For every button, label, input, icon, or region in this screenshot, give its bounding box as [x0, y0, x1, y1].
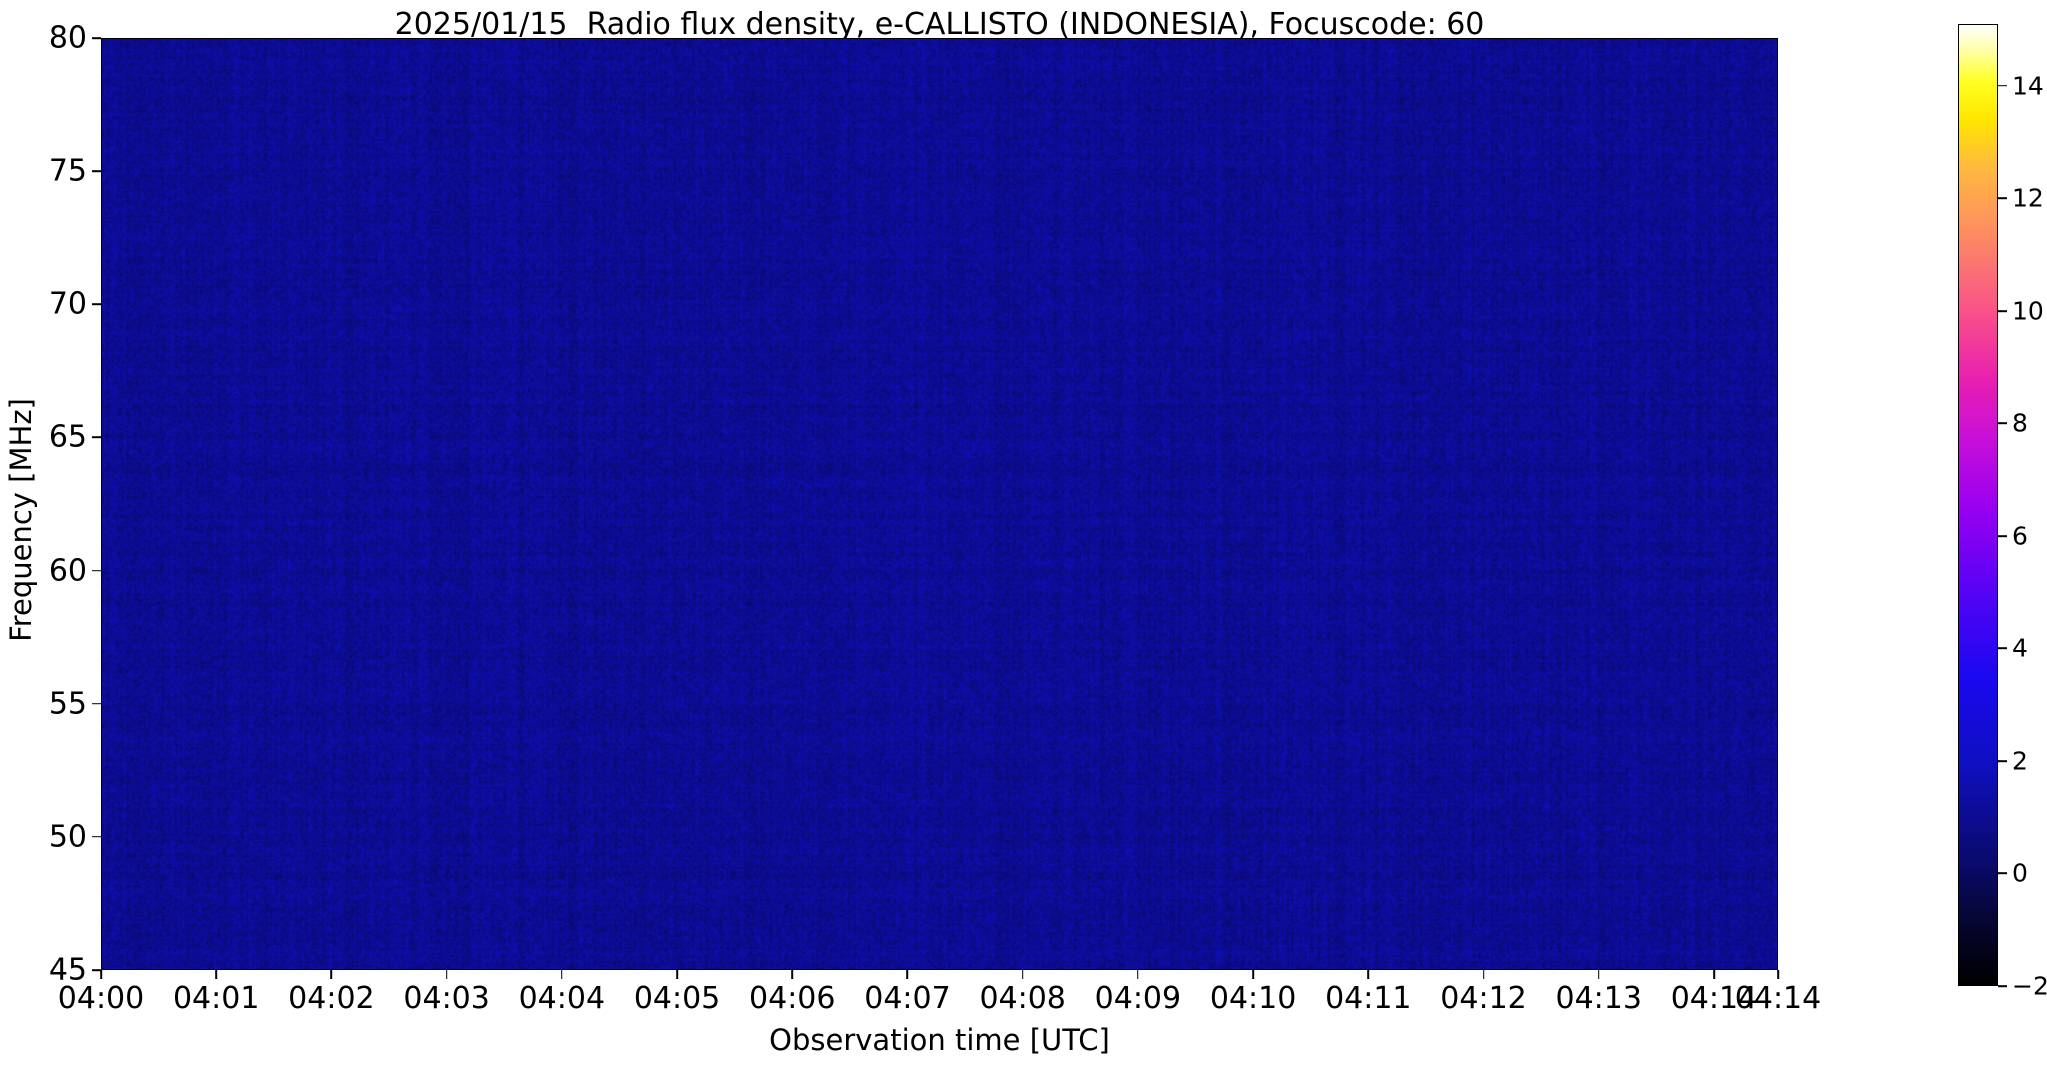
colorbar-tick-label: 12 — [2012, 184, 2044, 213]
x-tick-mark — [1252, 970, 1254, 979]
colorbar: −202468101214 dB above background — [1958, 24, 2047, 986]
x-tick-mark — [1777, 970, 1779, 979]
colorbar-tick-mark — [1998, 648, 2007, 650]
x-tick-mark — [1713, 970, 1715, 979]
colorbar-tick-mark — [1998, 985, 2007, 987]
x-tick-label: 04:13 — [1555, 981, 1641, 1016]
colorbar-tick-label: 4 — [2012, 634, 2028, 663]
x-tick-mark — [100, 970, 102, 979]
x-tick-mark — [1137, 970, 1139, 979]
y-tick-label: 50 — [49, 819, 87, 854]
y-tick-mark — [92, 37, 101, 39]
colorbar-tick-mark — [1998, 760, 2007, 762]
x-tick-mark — [1483, 970, 1485, 979]
y-tick-label: 60 — [49, 553, 87, 588]
y-tick-mark — [92, 303, 101, 305]
x-tick-label: 04:06 — [749, 981, 835, 1016]
y-tick-mark — [92, 170, 101, 172]
x-tick-label: 04:11 — [1325, 981, 1411, 1016]
x-tick-label: 04:10 — [1210, 981, 1296, 1016]
x-tick-label: 04:07 — [864, 981, 950, 1016]
colorbar-tick-label: 6 — [2012, 521, 2028, 550]
x-axis-label: Observation time [UTC] — [101, 1023, 1778, 1057]
x-tick-label: 04:00 — [58, 981, 144, 1016]
colorbar-tick-label: 2 — [2012, 746, 2028, 775]
x-tick-mark — [907, 970, 909, 979]
spectrogram-figure: 2025/01/15 Radio flux density, e-CALLIST… — [0, 0, 2047, 1067]
spectrogram-plot-area — [101, 38, 1778, 970]
spectrogram-image — [102, 39, 1777, 969]
x-tick-mark — [331, 970, 333, 979]
y-tick-mark — [92, 836, 101, 838]
colorbar-tick-label: 10 — [2012, 296, 2044, 325]
y-tick-label: 65 — [49, 420, 87, 455]
x-tick-mark — [1368, 970, 1370, 979]
x-tick-label: 04:05 — [634, 981, 720, 1016]
colorbar-tick-mark — [1998, 423, 2007, 425]
colorbar-tick-mark — [1998, 85, 2007, 87]
colorbar-tick-label: 0 — [2012, 859, 2028, 888]
x-tick-mark — [446, 970, 448, 979]
x-tick-label: 04:08 — [979, 981, 1065, 1016]
y-tick-mark — [92, 570, 101, 572]
y-tick-label: 75 — [49, 154, 87, 189]
colorbar-tick-mark — [1998, 198, 2007, 200]
colorbar-tick-label: 14 — [2012, 71, 2044, 100]
x-tick-label: 04:12 — [1440, 981, 1526, 1016]
x-tick-mark — [1022, 970, 1024, 979]
x-tick-label: 04:02 — [288, 981, 374, 1016]
x-tick-mark — [676, 970, 678, 979]
y-tick-label: 70 — [49, 287, 87, 322]
colorbar-tick-mark — [1998, 873, 2007, 875]
colorbar-gradient — [1958, 24, 1998, 986]
colorbar-tick-mark — [1998, 535, 2007, 537]
x-tick-mark — [791, 970, 793, 979]
x-tick-mark — [561, 970, 563, 979]
x-tick-label: 04:03 — [403, 981, 489, 1016]
x-axis: 04:0004:0104:0204:0304:0404:0504:0604:07… — [101, 970, 1778, 1067]
y-tick-mark — [92, 437, 101, 439]
x-tick-mark — [1598, 970, 1600, 979]
x-tick-label: 04:01 — [173, 981, 259, 1016]
x-tick-mark — [215, 970, 217, 979]
x-tick-label: 04:09 — [1095, 981, 1181, 1016]
x-tick-label: 04:04 — [519, 981, 605, 1016]
colorbar-tick-mark — [1998, 310, 2007, 312]
y-axis: Frequency [MHz] 8075706560555045 — [0, 38, 101, 970]
x-tick-label: 04:14 — [1735, 981, 1821, 1016]
y-tick-mark — [92, 703, 101, 705]
y-tick-label: 80 — [49, 21, 87, 56]
colorbar-tick-label: −2 — [2012, 972, 2047, 1001]
y-tick-label: 55 — [49, 686, 87, 721]
y-axis-label: Frequency [MHz] — [4, 54, 38, 986]
colorbar-tick-label: 8 — [2012, 409, 2028, 438]
